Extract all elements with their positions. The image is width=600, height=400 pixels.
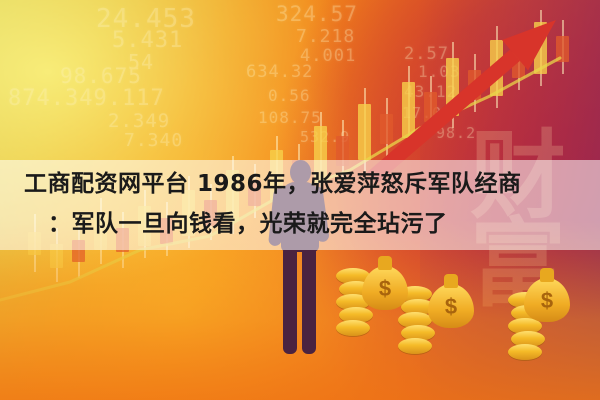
headline-line-1: 工商配资网平台 1986年，张爱萍怒斥军队经商 [24, 171, 522, 197]
money-bag-neck [444, 274, 458, 288]
coin-icon [336, 320, 370, 336]
thumbnail-image: 24.453324.575.4317.218544.0012.5798.6756… [0, 0, 600, 400]
headline-line-2: ：军队一旦向钱看，光荣就完全玷污了 [24, 204, 580, 244]
money-bag-symbol: $ [524, 288, 570, 314]
up-arrow-icon [372, 20, 556, 178]
silhouette-leg-left [283, 246, 297, 354]
money-bag-symbol: $ [362, 276, 408, 302]
money-bag-symbol: $ [428, 294, 474, 320]
coin-icon [398, 338, 432, 354]
coin-icon [508, 344, 542, 360]
money-bag-neck [378, 256, 392, 270]
money-bag-neck [540, 268, 554, 282]
silhouette-leg-right [302, 246, 316, 354]
headline-text: 工商配资网平台 1986年，张爱萍怒斥军队经商 ：军队一旦向钱看，光荣就完全玷污… [24, 164, 580, 244]
